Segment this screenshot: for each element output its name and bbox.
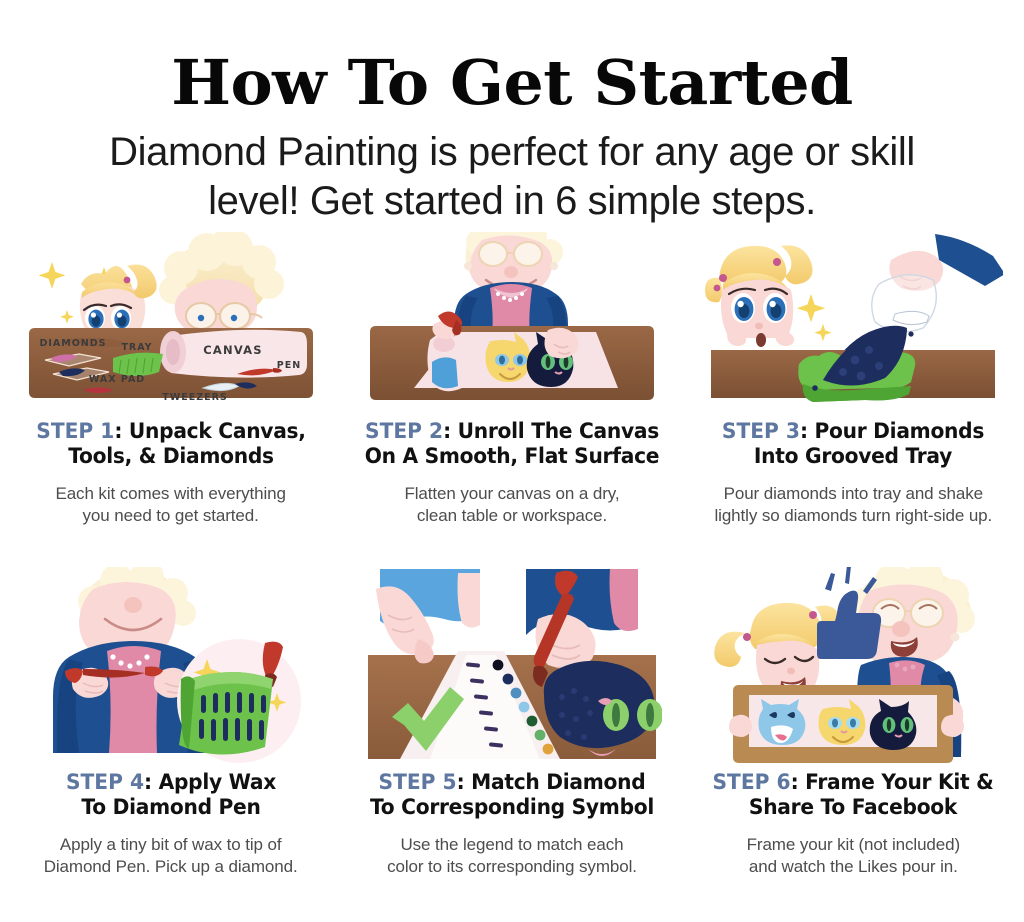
step-title-line2-1: Tools, & Diamonds	[20, 445, 321, 470]
art-label-canvas: CANVAS	[203, 343, 262, 357]
unpack-canvas-illustration: CANVAS DIAMONDS	[21, 232, 321, 412]
step-separator: :	[457, 770, 472, 795]
girl-character	[80, 265, 157, 333]
grooved-tray	[179, 672, 273, 755]
step-body-line1-5: Use the legend to match each	[347, 834, 677, 856]
step-title-line1-5: Match Diamond	[471, 770, 645, 795]
step-title-line1-3: Pour Diamonds	[815, 419, 985, 444]
step-body-5: Use the legend to match each color to it…	[347, 834, 677, 879]
step-title-line2-4: To Diamond Pen	[20, 796, 321, 821]
step-caption-6: STEP 6: Frame Your Kit & Share To Facebo…	[703, 771, 1004, 821]
subtitle-line-2: level! Get started in 6 simple steps.	[82, 177, 942, 226]
art-label-pen: PEN	[276, 360, 300, 371]
step-card-5: STEP 5: Match Diamond To Corresponding S…	[341, 567, 682, 902]
step-body-1: Each kit comes with everything you need …	[6, 483, 336, 528]
step-card-6: STEP 6: Frame Your Kit & Share To Facebo…	[683, 567, 1024, 902]
girl-character	[705, 245, 813, 347]
apply-wax-illustration	[21, 567, 321, 763]
header: How To Get Started Diamond Painting is p…	[0, 0, 1024, 226]
step-separator: :	[144, 770, 159, 795]
step-body-line1-2: Flatten your canvas on a dry,	[347, 483, 677, 505]
pour-diamonds-illustration	[703, 232, 1003, 412]
step-title-line1-2: Unroll The Canvas	[458, 419, 659, 444]
infographic-page: How To Get Started Diamond Painting is p…	[0, 0, 1024, 922]
step-title-line2-2: On A Smooth, Flat Surface	[362, 445, 663, 470]
step-title-line1-6: Frame Your Kit &	[805, 770, 993, 795]
step-body-line2-1: you need to get started.	[6, 505, 336, 527]
step-body-4: Apply a tiny bit of wax to tip of Diamon…	[6, 834, 336, 879]
subtitle-line-1: Diamond Painting is perfect for any age …	[82, 128, 942, 177]
step-body-line2-3: lightly so diamonds turn right-side up.	[688, 505, 1018, 527]
step-number-3: STEP 3	[722, 419, 800, 444]
frame-kit-illustration	[703, 567, 1003, 763]
step-body-line2-2: clean table or workspace.	[347, 505, 677, 527]
page-subtitle: Diamond Painting is perfect for any age …	[82, 128, 942, 226]
art-label-tray: TRAY	[121, 342, 152, 353]
step-card-1: CANVAS DIAMONDS	[0, 232, 341, 567]
step-number-2: STEP 2	[365, 419, 443, 444]
step-card-2: STEP 2: Unroll The Canvas On A Smooth, F…	[341, 232, 682, 567]
match-symbol-illustration	[362, 567, 662, 763]
step-caption-1: STEP 1: Unpack Canvas, Tools, & Diamonds	[20, 420, 321, 470]
step-body-line1-4: Apply a tiny bit of wax to tip of	[6, 834, 336, 856]
art-label-diamonds: DIAMONDS	[39, 338, 106, 349]
step-title-line2-5: To Corresponding Symbol	[362, 796, 663, 821]
grandmother-character	[454, 232, 568, 338]
unroll-canvas-illustration	[362, 232, 662, 412]
art-label-wax-pad: WAX PAD	[88, 374, 144, 385]
step-body-line2-5: color to its corresponding symbol.	[347, 856, 677, 878]
step-title-line2-6: Share To Facebook	[703, 796, 1004, 821]
step-body-line1-3: Pour diamonds into tray and shake	[688, 483, 1018, 505]
step-body-line1-6: Frame your kit (not included)	[688, 834, 1018, 856]
step-title-line1-1: Unpack Canvas,	[129, 419, 306, 444]
diamond-bag	[872, 275, 937, 332]
step-body-3: Pour diamonds into tray and shake lightl…	[688, 483, 1018, 528]
step-separator: :	[443, 419, 458, 444]
step-card-3: STEP 3: Pour Diamonds Into Grooved Tray …	[683, 232, 1024, 567]
step-number-5: STEP 5	[379, 770, 457, 795]
step-caption-2: STEP 2: Unroll The Canvas On A Smooth, F…	[362, 420, 663, 470]
step-body-6: Frame your kit (not included) and watch …	[688, 834, 1018, 879]
step-body-line1-1: Each kit comes with everything	[6, 483, 336, 505]
step-body-2: Flatten your canvas on a dry, clean tabl…	[347, 483, 677, 528]
step-caption-3: STEP 3: Pour Diamonds Into Grooved Tray	[703, 420, 1004, 470]
step-title-line2-3: Into Grooved Tray	[703, 445, 1004, 470]
step-caption-4: STEP 4: Apply Wax To Diamond Pen	[20, 771, 321, 821]
step-separator: :	[800, 419, 815, 444]
grandmother-character	[159, 232, 284, 330]
steps-grid: CANVAS DIAMONDS	[0, 232, 1024, 902]
step-caption-5: STEP 5: Match Diamond To Corresponding S…	[362, 771, 663, 821]
step-separator: :	[791, 770, 806, 795]
step-title-line1-4: Apply Wax	[158, 770, 275, 795]
step-separator: :	[114, 419, 129, 444]
step-body-line2-6: and watch the Likes pour in.	[688, 856, 1018, 878]
magnified-inset	[177, 639, 301, 763]
sparkle-icon	[797, 294, 832, 341]
step-card-4: STEP 4: Apply Wax To Diamond Pen Apply a…	[0, 567, 341, 902]
page-title: How To Get Started	[0, 52, 1024, 114]
step-body-line2-4: Diamond Pen. Pick up a diamond.	[6, 856, 336, 878]
step-number-1: STEP 1	[36, 419, 114, 444]
step-number-4: STEP 4	[66, 770, 144, 795]
art-label-tweezers: TWEEZERS	[162, 392, 227, 403]
framed-painting	[729, 685, 964, 763]
step-number-6: STEP 6	[713, 770, 791, 795]
